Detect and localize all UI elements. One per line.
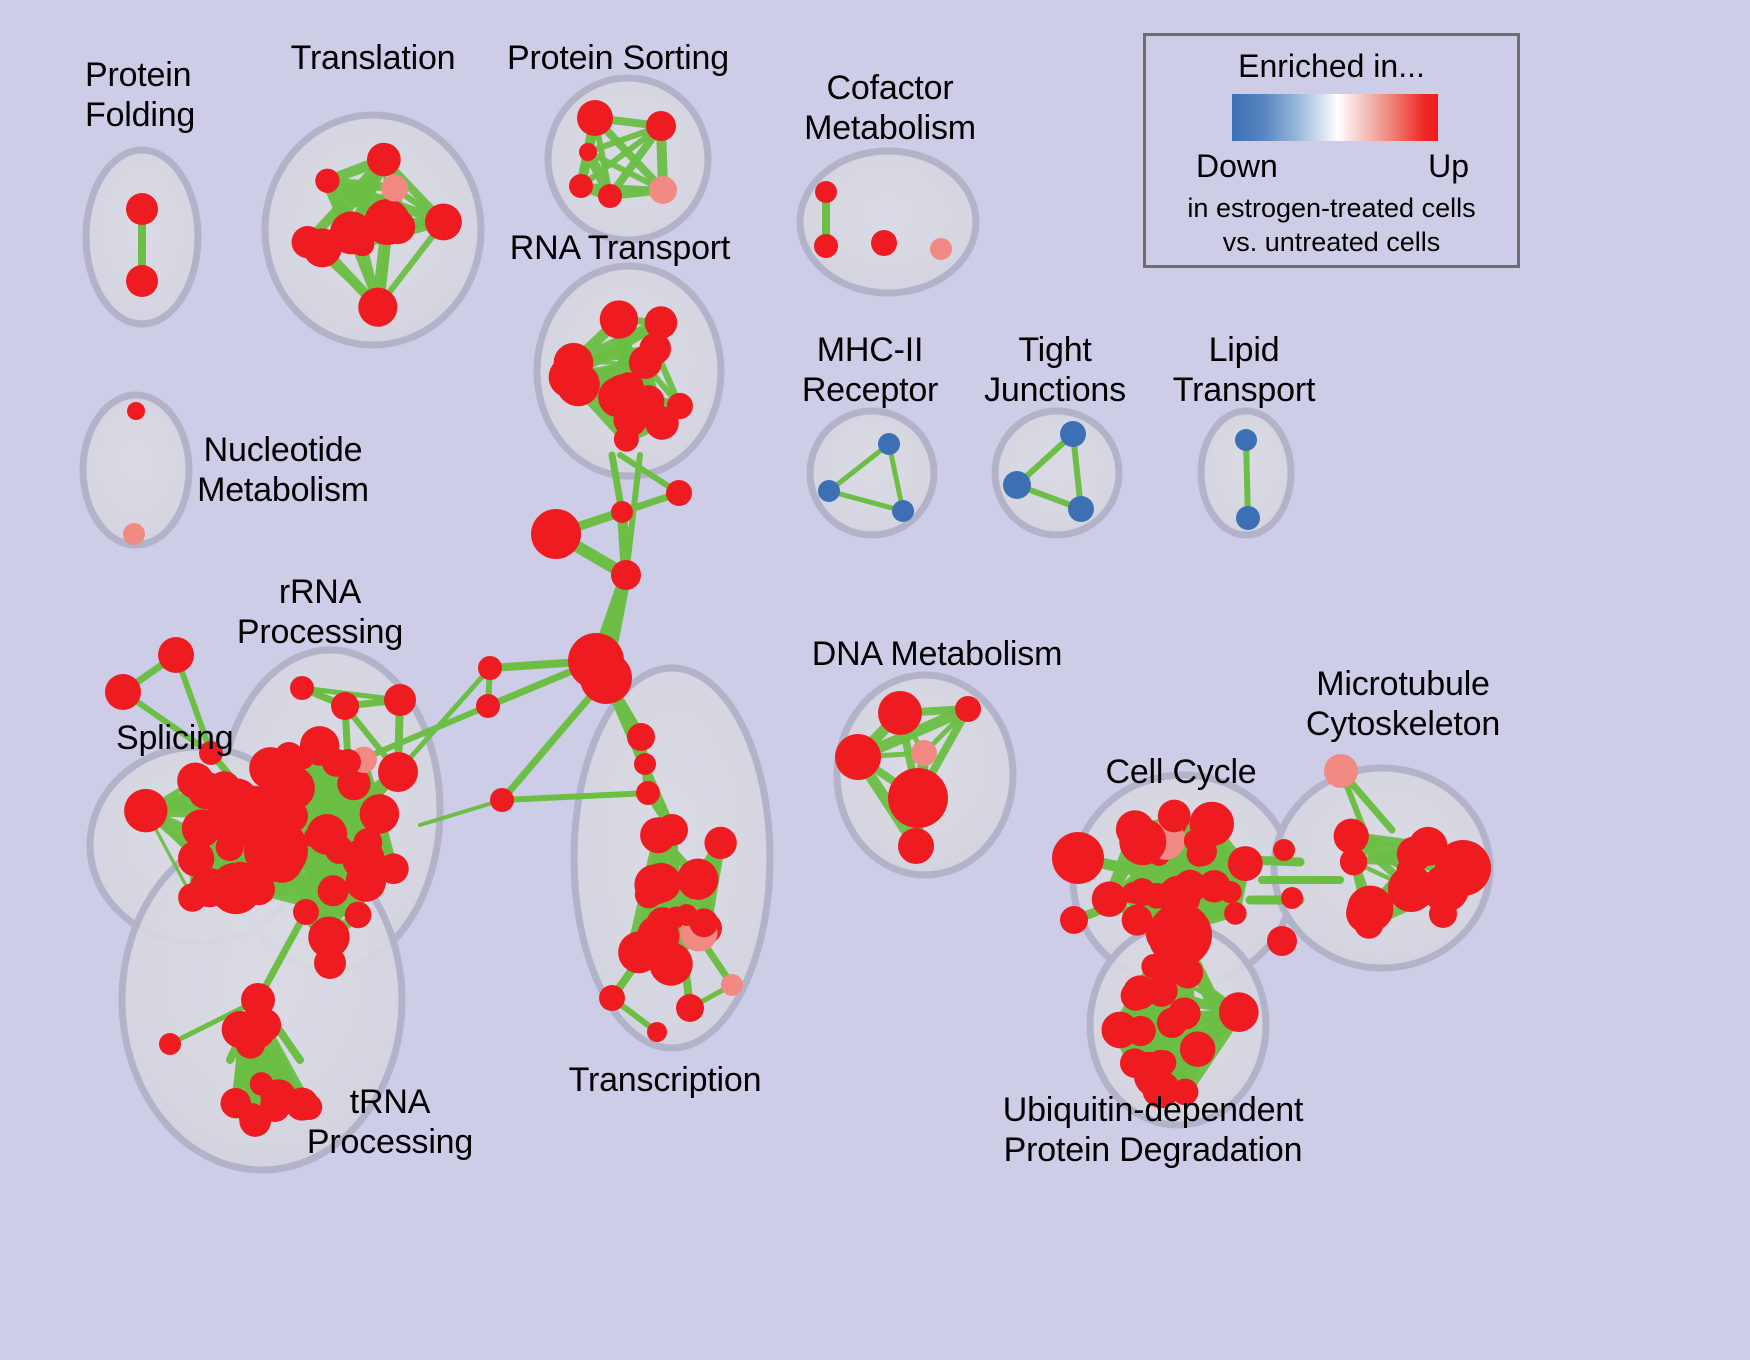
network-node xyxy=(557,363,600,406)
network-node xyxy=(637,915,680,958)
network-node xyxy=(645,406,678,439)
cluster-label-dna-metabolism: DNA Metabolism xyxy=(812,634,1062,674)
cluster-hull xyxy=(810,411,934,535)
legend-subtitle-line1: in estrogen-treated cells xyxy=(1146,193,1517,224)
network-node xyxy=(315,169,339,193)
network-node xyxy=(1123,975,1157,1009)
network-node xyxy=(704,827,736,859)
network-node xyxy=(577,100,613,136)
network-node xyxy=(182,809,220,847)
network-node xyxy=(1224,902,1247,925)
network-node xyxy=(1151,1050,1176,1075)
network-node xyxy=(124,789,167,832)
network-node xyxy=(649,176,677,204)
network-node xyxy=(208,771,241,804)
network-node xyxy=(580,652,632,704)
network-node xyxy=(367,143,401,177)
network-node xyxy=(476,694,500,718)
cluster-label-protein-sorting: Protein Sorting xyxy=(507,38,729,78)
network-node xyxy=(1168,997,1200,1029)
network-node xyxy=(1060,906,1088,934)
cluster-label-nucleotide-metabolism: Nucleotide Metabolism xyxy=(197,430,369,510)
network-node xyxy=(1180,1031,1215,1066)
network-node xyxy=(721,974,743,996)
network-node xyxy=(1172,957,1203,988)
network-node xyxy=(878,433,900,455)
cluster-label-tight-junctions: Tight Junctions xyxy=(984,330,1126,410)
network-node xyxy=(331,692,359,720)
network-node xyxy=(598,184,622,208)
network-node xyxy=(123,523,145,545)
legend-low-label: Down xyxy=(1196,148,1278,185)
network-node xyxy=(835,734,881,780)
network-node xyxy=(666,480,692,506)
cluster-label-trna-processing: tRNA Processing xyxy=(307,1082,473,1162)
enrichment-map-figure: Protein FoldingTranslationProtein Sortin… xyxy=(0,0,1750,1360)
network-node xyxy=(358,288,397,327)
network-node xyxy=(378,752,418,792)
network-node xyxy=(815,181,837,203)
network-node xyxy=(216,833,244,861)
cluster-label-microtubule-cytoskeleton: Microtubule Cytoskeleton xyxy=(1306,664,1500,744)
network-node xyxy=(814,234,838,258)
cluster-label-ubiquitin-degradation: Ubiquitin-dependent Protein Degradation xyxy=(1003,1090,1304,1170)
network-node xyxy=(1122,905,1153,936)
network-node xyxy=(159,1033,181,1055)
network-node xyxy=(105,674,141,710)
network-node xyxy=(290,676,314,700)
network-node xyxy=(871,230,897,256)
network-node xyxy=(634,753,656,775)
network-node xyxy=(291,746,314,769)
network-node xyxy=(1429,900,1457,928)
network-node xyxy=(646,111,676,141)
network-node xyxy=(1198,870,1230,902)
cluster-label-translation: Translation xyxy=(291,38,456,78)
network-node xyxy=(335,749,361,775)
network-node xyxy=(1334,819,1369,854)
network-node xyxy=(1052,832,1104,884)
network-node xyxy=(126,193,158,225)
cluster-label-protein-folding: Protein Folding xyxy=(85,55,195,135)
network-node xyxy=(1273,839,1295,861)
network-node xyxy=(177,762,213,798)
legend-subtitle-line2: vs. untreated cells xyxy=(1146,227,1517,258)
network-node xyxy=(1122,882,1143,903)
legend-title: Enriched in... xyxy=(1146,48,1517,85)
cluster-label-cell-cycle: Cell Cycle xyxy=(1105,752,1256,792)
network-node xyxy=(425,204,462,241)
network-node xyxy=(293,899,319,925)
network-node xyxy=(689,908,718,937)
network-node xyxy=(627,723,655,751)
network-node xyxy=(292,226,324,258)
network-node xyxy=(338,225,363,250)
network-node xyxy=(911,740,937,766)
cluster-label-splicing: Splicing xyxy=(116,718,233,758)
network-node xyxy=(930,238,952,260)
cluster-hull xyxy=(548,78,708,240)
cluster-label-rna-transport: RNA Transport xyxy=(510,228,730,268)
network-node xyxy=(629,348,659,378)
network-node xyxy=(677,859,718,900)
network-node xyxy=(1281,887,1303,909)
network-node xyxy=(656,814,688,846)
network-node xyxy=(1141,954,1166,979)
network-node xyxy=(325,835,354,864)
network-node xyxy=(1068,496,1094,522)
network-node xyxy=(1236,506,1260,530)
network-node xyxy=(241,983,275,1017)
cluster-label-lipid-transport: Lipid Transport xyxy=(1173,330,1315,410)
network-node xyxy=(818,480,840,502)
network-node xyxy=(892,500,914,522)
network-node xyxy=(611,560,641,590)
network-node xyxy=(645,306,678,339)
network-node xyxy=(235,786,274,825)
network-node xyxy=(1060,421,1086,447)
network-node xyxy=(878,691,922,735)
network-node xyxy=(381,175,408,202)
network-node xyxy=(314,947,346,979)
network-node xyxy=(579,143,597,161)
network-node xyxy=(1158,800,1191,833)
network-node xyxy=(490,788,514,812)
network-node xyxy=(1187,841,1212,866)
legend-panel: Enriched in... Down Up in estrogen-treat… xyxy=(1143,33,1520,268)
network-node xyxy=(614,427,639,452)
network-node xyxy=(126,265,158,297)
network-node xyxy=(1003,471,1031,499)
network-node xyxy=(1092,881,1128,917)
cluster-label-mhc-ii-receptor: MHC-II Receptor xyxy=(802,330,938,410)
network-node xyxy=(636,781,660,805)
network-node xyxy=(1267,926,1297,956)
network-node xyxy=(239,1103,266,1130)
network-node xyxy=(271,766,315,810)
network-node xyxy=(898,828,934,864)
network-node xyxy=(235,1029,265,1059)
network-node xyxy=(127,402,145,420)
network-node xyxy=(641,863,681,903)
network-node xyxy=(676,994,704,1022)
network-node xyxy=(1347,886,1393,932)
network-node xyxy=(611,501,633,523)
network-node xyxy=(250,1072,274,1096)
network-node xyxy=(244,818,308,882)
network-node xyxy=(318,875,349,906)
cluster-label-cofactor-metabolism: Cofactor Metabolism xyxy=(804,68,976,148)
network-node xyxy=(1324,754,1358,788)
network-node xyxy=(1228,846,1263,881)
legend-high-label: Up xyxy=(1428,148,1469,185)
network-node xyxy=(1116,810,1154,848)
legend-color-gradient xyxy=(1232,94,1438,141)
network-node xyxy=(190,868,229,907)
network-node xyxy=(600,300,638,338)
cluster-label-transcription: Transcription xyxy=(569,1060,762,1100)
network-node xyxy=(158,637,194,673)
network-node xyxy=(955,696,981,722)
network-node xyxy=(478,656,502,680)
network-node xyxy=(1101,1012,1138,1049)
network-node xyxy=(345,902,372,929)
network-node xyxy=(888,768,948,828)
network-node xyxy=(531,509,581,559)
network-node xyxy=(599,985,625,1011)
network-node xyxy=(381,209,416,244)
network-node xyxy=(647,1022,667,1042)
network-node xyxy=(569,174,593,198)
network-node xyxy=(1435,840,1491,896)
network-node xyxy=(360,794,400,834)
network-node xyxy=(384,684,416,716)
network-node xyxy=(1219,992,1259,1032)
cluster-label-rrna-processing: rRNA Processing xyxy=(237,572,403,652)
network-node xyxy=(1235,429,1257,451)
